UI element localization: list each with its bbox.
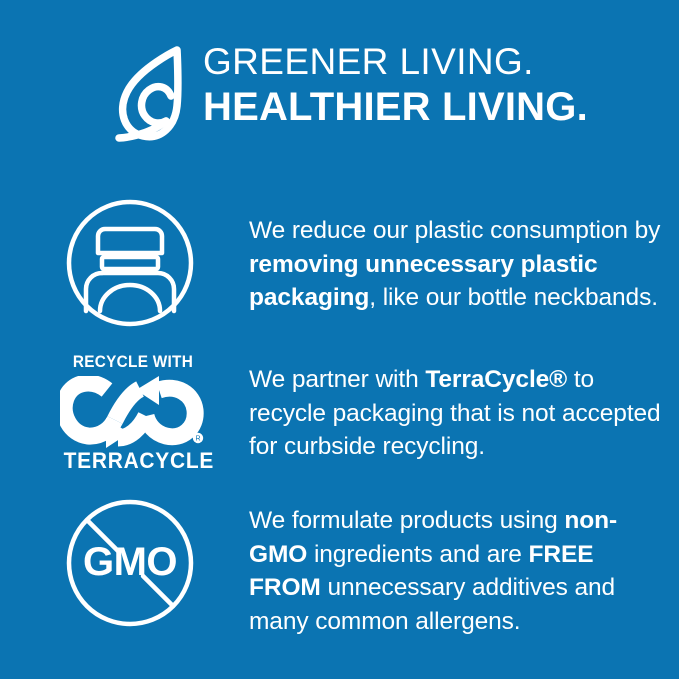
text-segment: , like our bottle neckbands. (369, 284, 658, 311)
infographic-page: GREENER LIVING. HEALTHIER LIVING. We red… (0, 0, 679, 679)
infinity-recycle-icon: R (60, 376, 206, 448)
feature-text-terracycle: We partner with TerraCycle® to recycle p… (249, 363, 669, 464)
terracycle-logo-container: RECYCLE WITH R (60, 345, 200, 480)
feature-text-plastic-reduction: We reduce our plastic consumption by rem… (249, 214, 669, 315)
terracycle-bottom-label: TERRACYCLE (64, 448, 203, 474)
terracycle-top-label: RECYCLE WITH (65, 353, 201, 372)
header-banner: GREENER LIVING. HEALTHIER LIVING. (0, 40, 679, 150)
terracycle-logo-icon: RECYCLE WITH R (60, 352, 200, 474)
text-segment: We partner with (249, 366, 425, 393)
feature-row-plastic-reduction: We reduce our plastic consumption by rem… (0, 190, 679, 335)
text-segment: We reduce our plastic consumption by (249, 217, 660, 244)
bottle-neckband-icon-container (60, 190, 200, 335)
text-segment: ingredients and are (307, 541, 528, 568)
leaf-icon (103, 42, 203, 146)
no-gmo-icon: GMO (64, 497, 196, 629)
feature-row-terracycle: RECYCLE WITH R (0, 345, 679, 480)
header-text-block: GREENER LIVING. HEALTHIER LIVING. (203, 40, 588, 130)
feature-row-non-gmo: GMO We formulate products using non-GMO … (0, 490, 679, 635)
headline-line-2: HEALTHIER LIVING. (203, 84, 588, 130)
headline-line-1: GREENER LIVING. (203, 40, 588, 83)
bottle-neckband-icon (64, 197, 196, 329)
text-segment: We formulate products using (249, 507, 564, 534)
svg-text:R: R (195, 435, 200, 442)
feature-text-non-gmo: We formulate products using non-GMO ingr… (249, 504, 669, 638)
no-gmo-icon-container: GMO (60, 490, 200, 635)
text-segment-bold: TerraCycle® (425, 366, 567, 393)
